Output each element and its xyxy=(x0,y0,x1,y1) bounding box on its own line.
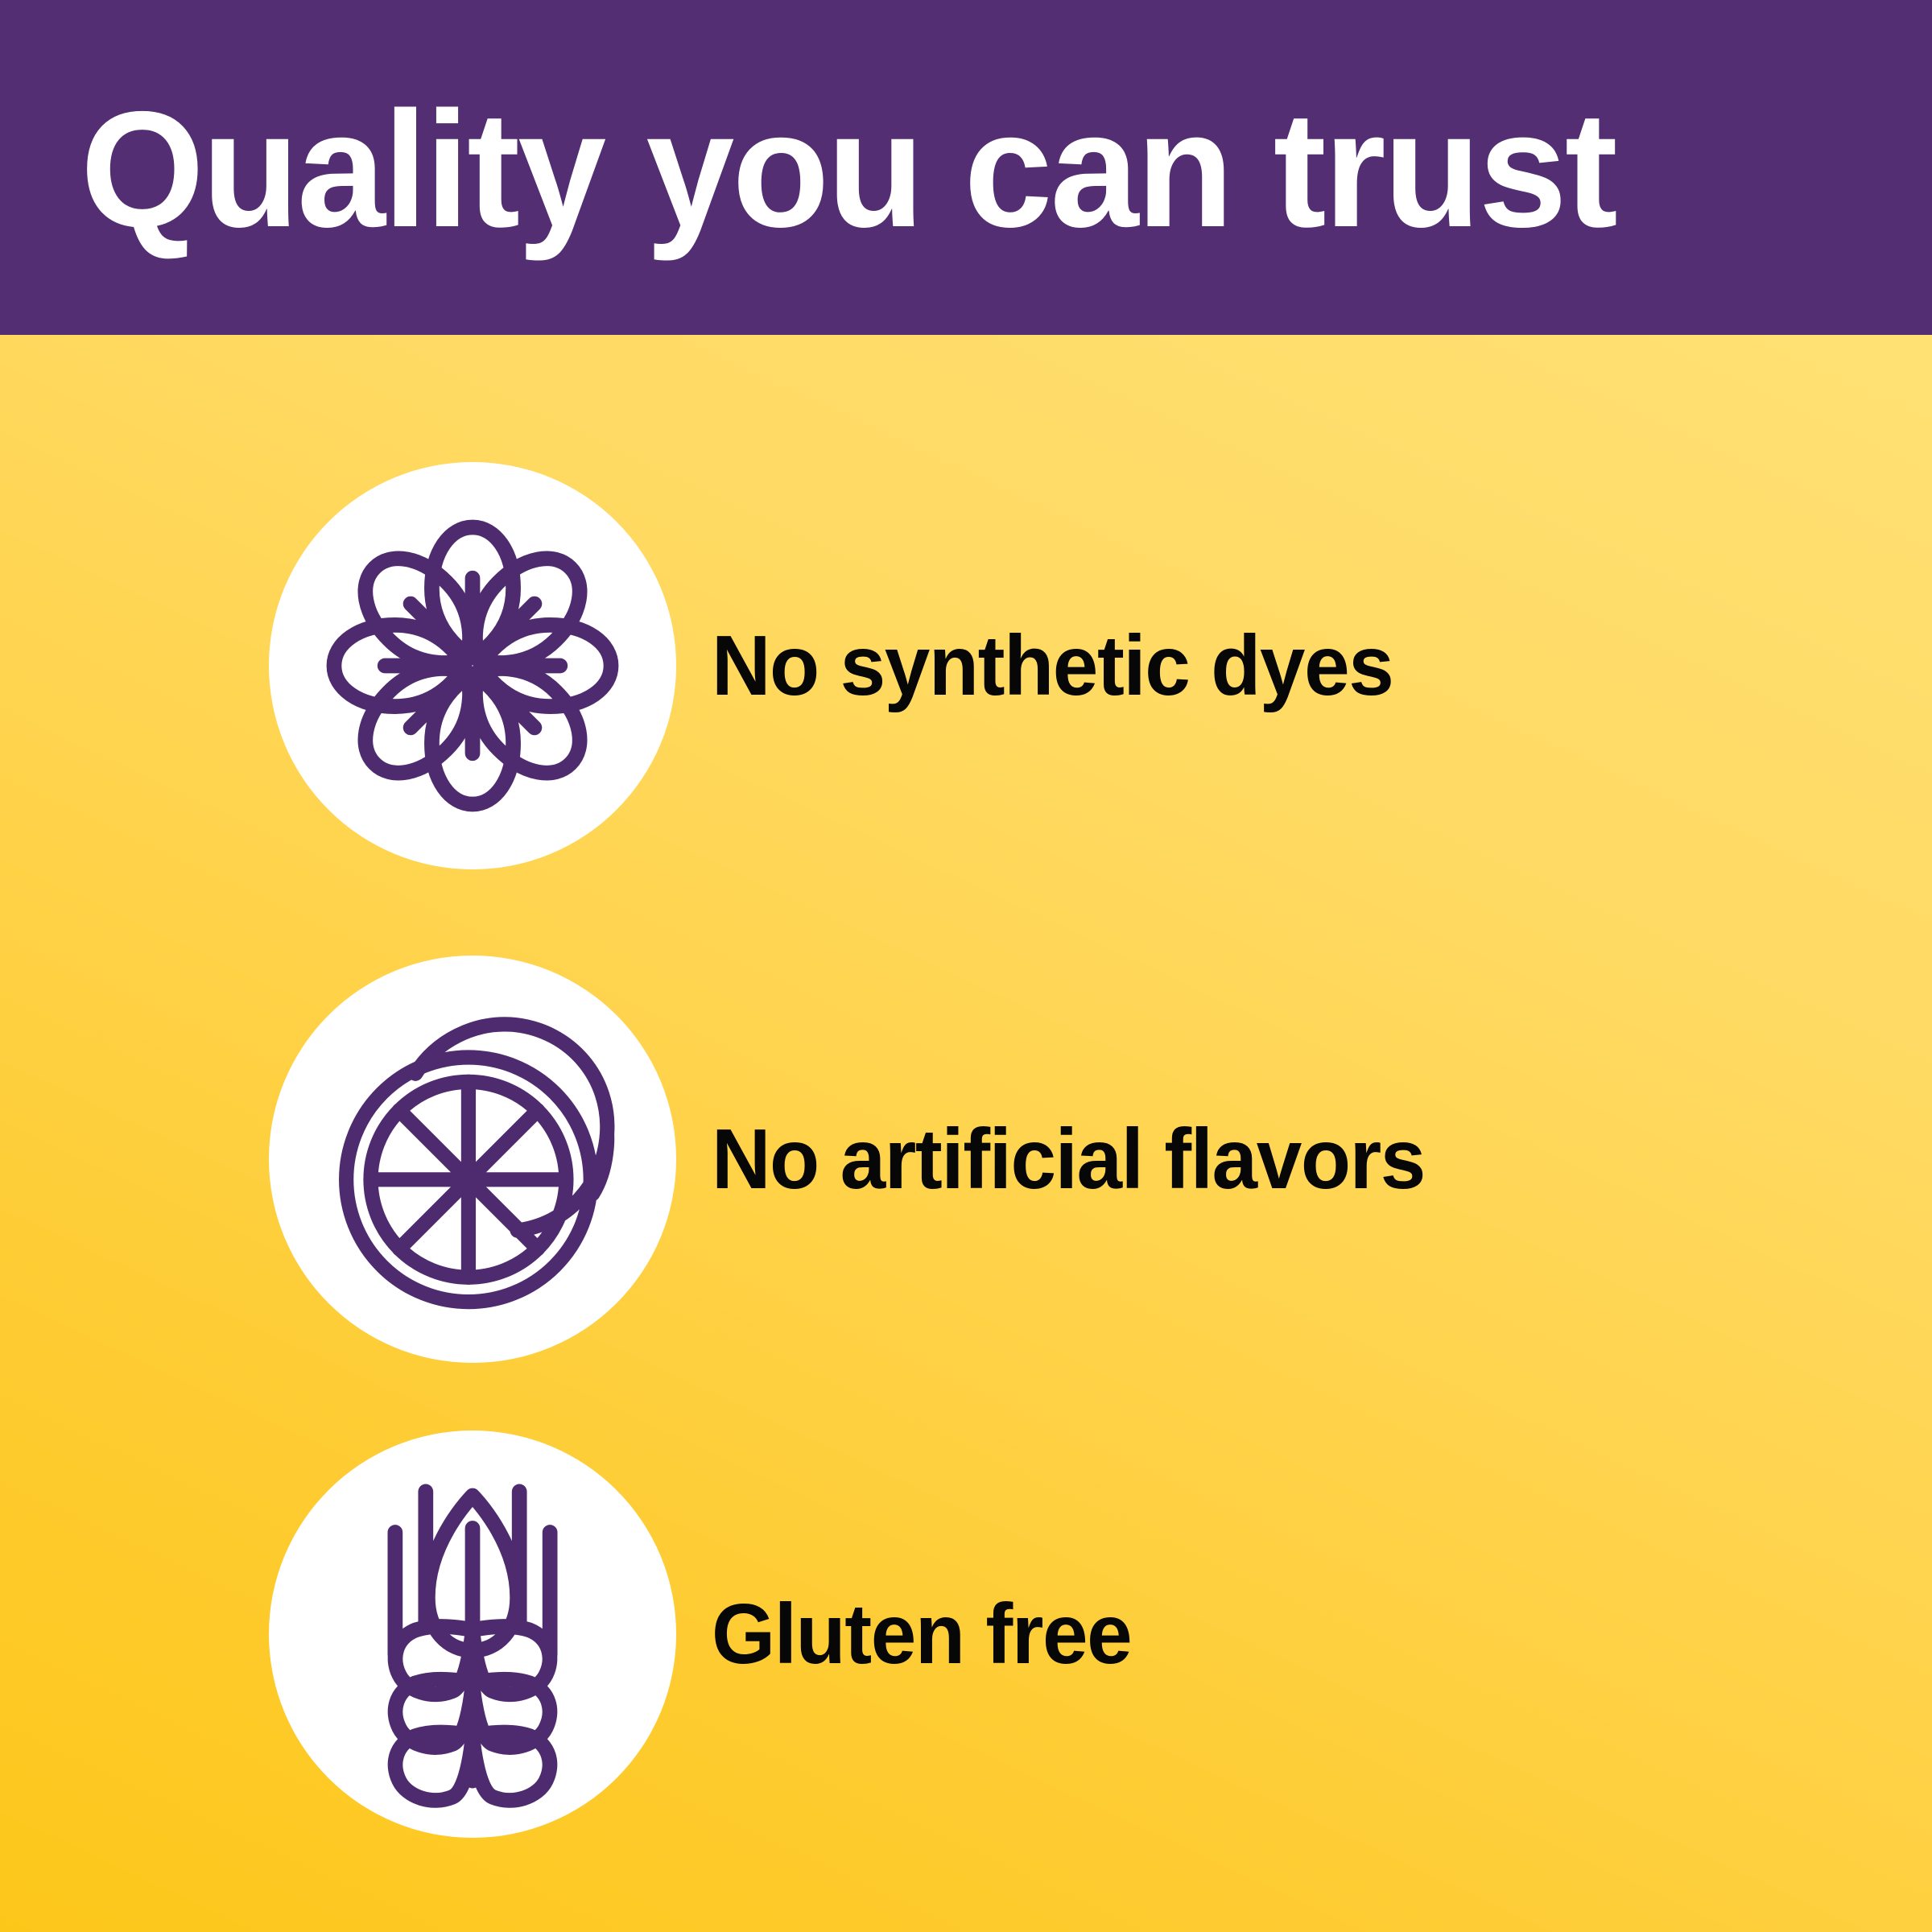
promo-graphic: Quality you can trust xyxy=(0,0,1932,1932)
page-title: Quality you can trust xyxy=(80,40,1813,298)
flower-petals-icon xyxy=(269,462,676,869)
feature-label: No artificial flavors xyxy=(712,950,1425,1368)
header-banner: Quality you can trust xyxy=(0,0,1932,335)
feature-row: No artificial flavors xyxy=(0,950,1932,1368)
feature-row: No synthetic dyes xyxy=(0,456,1932,875)
icon-badge xyxy=(269,462,676,869)
feature-label: Gluten free xyxy=(712,1425,1131,1843)
wheat-stalk-icon xyxy=(269,1430,676,1838)
feature-label: No synthetic dyes xyxy=(712,456,1393,875)
citrus-slice-icon xyxy=(269,956,676,1363)
feature-row: Gluten free xyxy=(0,1425,1932,1843)
icon-badge xyxy=(269,956,676,1363)
icon-badge xyxy=(269,1430,676,1838)
